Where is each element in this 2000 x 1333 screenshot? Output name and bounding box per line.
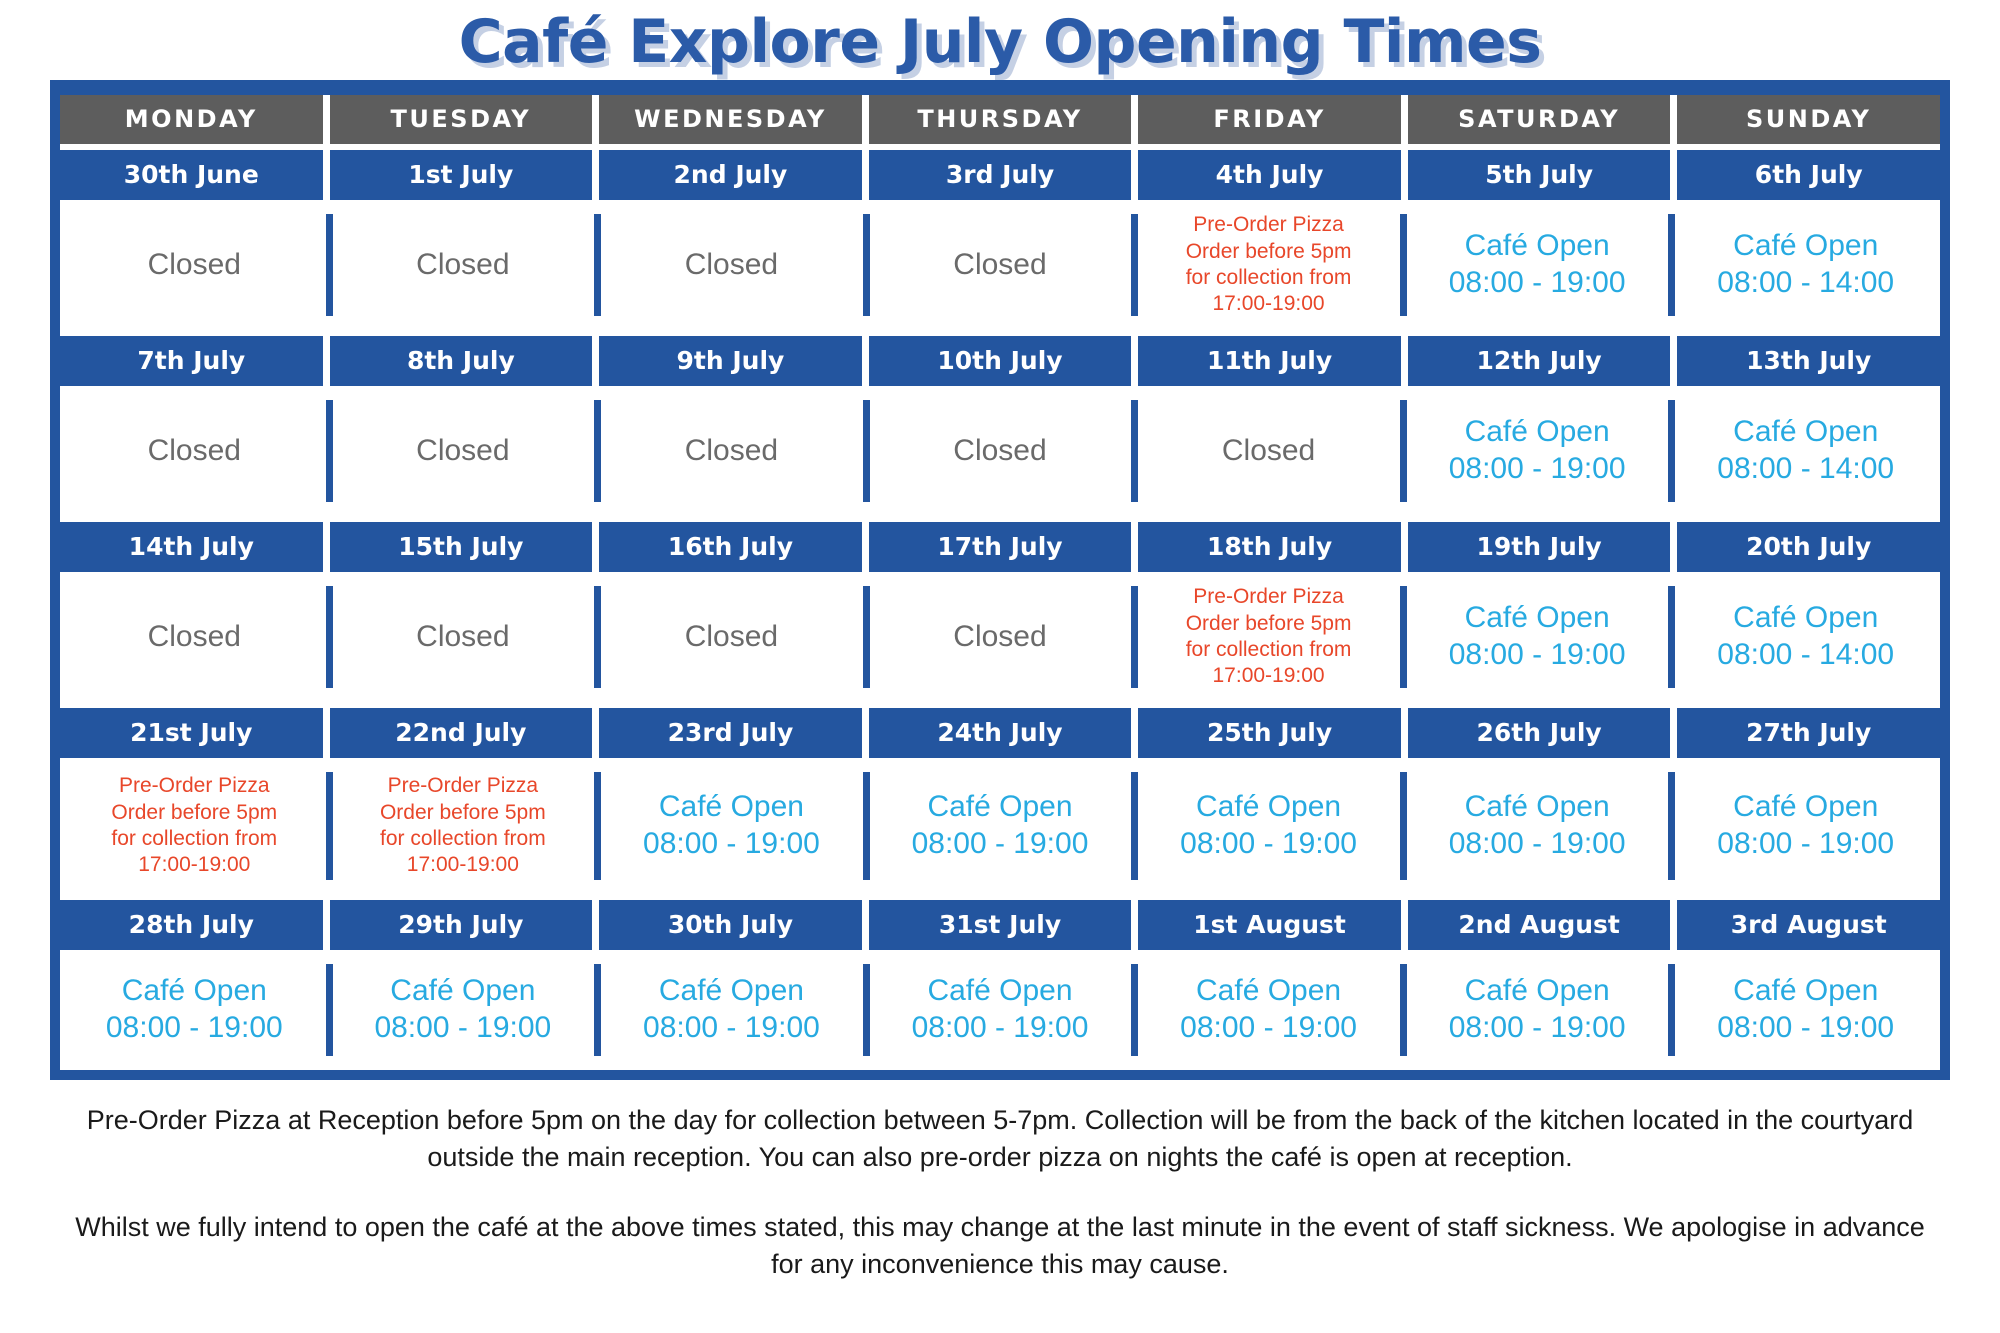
date-label: 7th July [60, 336, 323, 386]
date-label: 1st August [1138, 900, 1401, 950]
opening-hours: 08:00 - 19:00 [1449, 637, 1626, 674]
schedule-cell-pizza: Pre-Order PizzaOrder before 5pmfor colle… [60, 758, 329, 894]
schedule-cell-open: Café Open08:00 - 19:00 [866, 758, 1135, 894]
schedule-cell-open: Café Open08:00 - 19:00 [1134, 950, 1403, 1070]
opening-hours: 08:00 - 19:00 [1449, 265, 1626, 302]
footer-paragraph-pizza: Pre-Order Pizza at Reception before 5pm … [60, 1102, 1940, 1175]
closed-label: Closed [953, 620, 1046, 655]
date-label: 2nd August [1408, 900, 1671, 950]
pizza-line-title: Pre-Order Pizza [1193, 584, 1344, 610]
closed-label: Closed [416, 620, 509, 655]
pizza-line-order: Order before 5pm [1186, 239, 1352, 265]
date-label: 12th July [1408, 336, 1671, 386]
schedule-cell-closed: Closed [866, 386, 1135, 516]
schedule-row: ClosedClosedClosedClosedPre-Order PizzaO… [60, 200, 1940, 330]
closed-label: Closed [953, 434, 1046, 469]
schedule-row: ClosedClosedClosedClosedPre-Order PizzaO… [60, 572, 1940, 702]
cafe-open-label: Café Open [1196, 789, 1341, 826]
schedule-row: ClosedClosedClosedClosedClosedCafé Open0… [60, 386, 1940, 516]
date-label: 24th July [869, 708, 1132, 758]
day-header-friday: FRIDAY [1138, 95, 1401, 144]
date-label: 28th July [60, 900, 323, 950]
date-label: 27th July [1677, 708, 1940, 758]
cafe-open-label: Café Open [659, 973, 804, 1010]
opening-hours: 08:00 - 19:00 [106, 1010, 283, 1047]
closed-label: Closed [148, 248, 241, 283]
closed-label: Closed [148, 620, 241, 655]
schedule-row: Pre-Order PizzaOrder before 5pmfor colle… [60, 758, 1940, 894]
closed-label: Closed [685, 434, 778, 469]
schedule-cell-closed: Closed [597, 386, 866, 516]
cafe-open-label: Café Open [1465, 973, 1610, 1010]
closed-label: Closed [685, 248, 778, 283]
schedule-cell-closed: Closed [597, 572, 866, 702]
opening-hours: 08:00 - 19:00 [1449, 826, 1626, 863]
date-label: 18th July [1138, 522, 1401, 572]
date-label: 19th July [1408, 522, 1671, 572]
date-label: 30th June [60, 150, 323, 200]
day-header-tuesday: TUESDAY [330, 95, 593, 144]
day-header-sunday: SUNDAY [1677, 95, 1940, 144]
date-label: 8th July [330, 336, 593, 386]
schedule-cell-closed: Closed [1134, 386, 1403, 516]
title-bar: Café Explore July Opening Times [0, 0, 2000, 80]
schedule-cell-open: Café Open08:00 - 19:00 [1403, 386, 1672, 516]
pizza-line-title: Pre-Order Pizza [1193, 212, 1344, 238]
pizza-line-times: 17:00-19:00 [138, 852, 250, 878]
footer-notes: Pre-Order Pizza at Reception before 5pm … [60, 1102, 1940, 1283]
closed-label: Closed [953, 248, 1046, 283]
day-header-saturday: SATURDAY [1408, 95, 1671, 144]
closed-label: Closed [685, 620, 778, 655]
opening-times-poster: Café Explore July Opening Times MONDAYTU… [0, 0, 2000, 1333]
cafe-open-label: Café Open [1733, 789, 1878, 826]
pizza-line-collection: for collection from [380, 826, 546, 852]
date-row: 14th July15th July16th July17th July18th… [60, 522, 1940, 572]
date-label: 3rd August [1677, 900, 1940, 950]
pizza-line-collection: for collection from [1186, 637, 1352, 663]
date-label: 25th July [1138, 708, 1401, 758]
calendar-inner: MONDAYTUESDAYWEDNESDAYTHURSDAYFRIDAYSATU… [60, 95, 1940, 1070]
schedule-cell-open: Café Open08:00 - 14:00 [1671, 200, 1940, 330]
schedule-cell-open: Café Open08:00 - 19:00 [597, 950, 866, 1070]
opening-hours: 08:00 - 19:00 [1449, 1010, 1626, 1047]
schedule-cell-closed: Closed [329, 386, 598, 516]
schedule-cell-open: Café Open08:00 - 19:00 [60, 950, 329, 1070]
cafe-open-label: Café Open [1733, 600, 1878, 637]
day-header-wednesday: WEDNESDAY [599, 95, 862, 144]
schedule-cell-open: Café Open08:00 - 19:00 [329, 950, 598, 1070]
date-label: 2nd July [599, 150, 862, 200]
schedule-cell-open: Café Open08:00 - 14:00 [1671, 572, 1940, 702]
closed-label: Closed [416, 248, 509, 283]
opening-hours: 08:00 - 19:00 [643, 1010, 820, 1047]
schedule-cell-open: Café Open08:00 - 19:00 [1403, 200, 1672, 330]
date-label: 9th July [599, 336, 862, 386]
pizza-line-times: 17:00-19:00 [1213, 291, 1325, 317]
pizza-line-title: Pre-Order Pizza [119, 773, 270, 799]
schedule-cell-closed: Closed [329, 572, 598, 702]
date-row: 28th July29th July30th July31st July1st … [60, 900, 1940, 950]
cafe-open-label: Café Open [927, 789, 1072, 826]
pizza-line-times: 17:00-19:00 [407, 852, 519, 878]
day-of-week-header-row: MONDAYTUESDAYWEDNESDAYTHURSDAYFRIDAYSATU… [60, 95, 1940, 144]
date-row: 7th July8th July9th July10th July11th Ju… [60, 336, 1940, 386]
opening-hours: 08:00 - 14:00 [1717, 265, 1894, 302]
schedule-cell-closed: Closed [60, 200, 329, 330]
date-label: 23rd July [599, 708, 862, 758]
schedule-cell-closed: Closed [866, 200, 1135, 330]
cafe-open-label: Café Open [927, 973, 1072, 1010]
opening-hours: 08:00 - 19:00 [643, 826, 820, 863]
schedule-cell-closed: Closed [329, 200, 598, 330]
opening-hours: 08:00 - 19:00 [912, 826, 1089, 863]
schedule-cell-open: Café Open08:00 - 19:00 [1134, 758, 1403, 894]
schedule-cell-open: Café Open08:00 - 19:00 [1403, 758, 1672, 894]
date-label: 29th July [330, 900, 593, 950]
date-label: 26th July [1408, 708, 1671, 758]
date-label: 13th July [1677, 336, 1940, 386]
closed-label: Closed [416, 434, 509, 469]
opening-hours: 08:00 - 19:00 [1449, 451, 1626, 488]
schedule-cell-closed: Closed [60, 386, 329, 516]
date-label: 1st July [330, 150, 593, 200]
cafe-open-label: Café Open [1733, 973, 1878, 1010]
cafe-open-label: Café Open [1733, 228, 1878, 265]
pizza-line-collection: for collection from [1186, 265, 1352, 291]
date-label: 17th July [869, 522, 1132, 572]
date-label: 10th July [869, 336, 1132, 386]
calendar-frame: MONDAYTUESDAYWEDNESDAYTHURSDAYFRIDAYSATU… [50, 80, 1950, 1080]
opening-hours: 08:00 - 19:00 [912, 1010, 1089, 1047]
opening-hours: 08:00 - 19:00 [1717, 826, 1894, 863]
date-row: 21st July22nd July23rd July24th July25th… [60, 708, 1940, 758]
schedule-cell-pizza: Pre-Order PizzaOrder before 5pmfor colle… [1134, 200, 1403, 330]
pizza-line-order: Order before 5pm [1186, 611, 1352, 637]
cafe-open-label: Café Open [1196, 973, 1341, 1010]
cafe-open-label: Café Open [122, 973, 267, 1010]
pizza-line-title: Pre-Order Pizza [388, 773, 539, 799]
schedule-cell-open: Café Open08:00 - 19:00 [1403, 572, 1672, 702]
schedule-row: Café Open08:00 - 19:00Café Open08:00 - 1… [60, 950, 1940, 1070]
schedule-cell-open: Café Open08:00 - 19:00 [1671, 758, 1940, 894]
opening-hours: 08:00 - 19:00 [1180, 826, 1357, 863]
date-label: 16th July [599, 522, 862, 572]
opening-hours: 08:00 - 19:00 [1717, 1010, 1894, 1047]
date-label: 5th July [1408, 150, 1671, 200]
schedule-cell-open: Café Open08:00 - 14:00 [1671, 386, 1940, 516]
opening-hours: 08:00 - 14:00 [1717, 451, 1894, 488]
schedule-cell-open: Café Open08:00 - 19:00 [597, 758, 866, 894]
date-label: 3rd July [869, 150, 1132, 200]
calendar-weeks: 30th June1st July2nd July3rd July4th Jul… [60, 150, 1940, 1070]
cafe-open-label: Café Open [1465, 600, 1610, 637]
date-label: 20th July [1677, 522, 1940, 572]
schedule-cell-pizza: Pre-Order PizzaOrder before 5pmfor colle… [329, 758, 598, 894]
date-label: 15th July [330, 522, 593, 572]
pizza-line-order: Order before 5pm [380, 800, 546, 826]
cafe-open-label: Café Open [1465, 789, 1610, 826]
footer-paragraph-disclaimer: Whilst we fully intend to open the café … [60, 1209, 1940, 1282]
schedule-cell-open: Café Open08:00 - 19:00 [1671, 950, 1940, 1070]
date-label: 21st July [60, 708, 323, 758]
schedule-cell-open: Café Open08:00 - 19:00 [866, 950, 1135, 1070]
opening-hours: 08:00 - 19:00 [1180, 1010, 1357, 1047]
date-label: 22nd July [330, 708, 593, 758]
date-label: 30th July [599, 900, 862, 950]
date-label: 6th July [1677, 150, 1940, 200]
closed-label: Closed [148, 434, 241, 469]
schedule-cell-pizza: Pre-Order PizzaOrder before 5pmfor colle… [1134, 572, 1403, 702]
day-header-thursday: THURSDAY [869, 95, 1132, 144]
date-row: 30th June1st July2nd July3rd July4th Jul… [60, 150, 1940, 200]
page-title: Café Explore July Opening Times [459, 7, 1542, 77]
cafe-open-label: Café Open [1465, 414, 1610, 451]
pizza-line-times: 17:00-19:00 [1213, 663, 1325, 689]
date-label: 14th July [60, 522, 323, 572]
cafe-open-label: Café Open [1465, 228, 1610, 265]
schedule-cell-closed: Closed [597, 200, 866, 330]
schedule-cell-closed: Closed [60, 572, 329, 702]
cafe-open-label: Café Open [659, 789, 804, 826]
opening-hours: 08:00 - 14:00 [1717, 637, 1894, 674]
day-header-monday: MONDAY [60, 95, 323, 144]
pizza-line-collection: for collection from [111, 826, 277, 852]
opening-hours: 08:00 - 19:00 [374, 1010, 551, 1047]
date-label: 31st July [869, 900, 1132, 950]
closed-label: Closed [1222, 434, 1315, 469]
pizza-line-order: Order before 5pm [111, 800, 277, 826]
cafe-open-label: Café Open [390, 973, 535, 1010]
date-label: 11th July [1138, 336, 1401, 386]
cafe-open-label: Café Open [1733, 414, 1878, 451]
schedule-cell-open: Café Open08:00 - 19:00 [1403, 950, 1672, 1070]
date-label: 4th July [1138, 150, 1401, 200]
schedule-cell-closed: Closed [866, 572, 1135, 702]
